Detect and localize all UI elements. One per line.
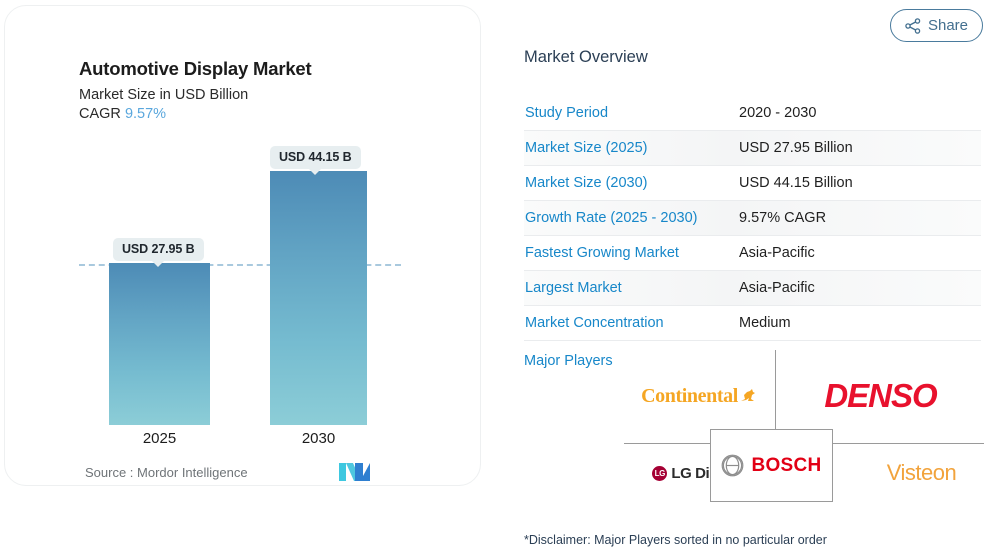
table-row: Market Concentration Medium xyxy=(524,306,981,341)
player-logo-bosch: BOSCH xyxy=(710,429,833,502)
major-players-label: Major Players xyxy=(524,353,613,369)
table-row: Fastest Growing Market Asia-Pacific xyxy=(524,236,981,271)
data-label-2030: USD 44.15 B xyxy=(270,146,361,169)
x-tick-2025: 2025 xyxy=(109,430,210,447)
data-label-2025: USD 27.95 B xyxy=(113,238,204,261)
market-snapshot-page: Automotive Display Market Market Size in… xyxy=(0,0,988,556)
row-key: Market Size (2025) xyxy=(524,140,739,156)
bosch-wordmark: BOSCH xyxy=(751,455,821,477)
bar-chart-plot: USD 27.95 B USD 44.15 B 2025 2030 xyxy=(5,6,482,487)
row-key: Market Size (2030) xyxy=(524,175,739,191)
row-value: Asia-Pacific xyxy=(739,245,815,261)
table-row: Growth Rate (2025 - 2030) 9.57% CAGR xyxy=(524,201,981,236)
table-row: Market Size (2025) USD 27.95 Billion xyxy=(524,131,981,166)
row-value: Asia-Pacific xyxy=(739,280,815,296)
visteon-wordmark: Visteon xyxy=(887,460,956,486)
row-value: 2020 - 2030 xyxy=(739,105,816,121)
x-tick-2030: 2030 xyxy=(270,430,367,447)
denso-wordmark: DENSO xyxy=(824,377,936,415)
table-row: Largest Market Asia-Pacific xyxy=(524,271,981,306)
lg-circle-icon: LG xyxy=(652,466,667,481)
chart-card: Automotive Display Market Market Size in… xyxy=(4,5,481,486)
row-key: Study Period xyxy=(524,105,739,121)
row-value: USD 44.15 Billion xyxy=(739,175,853,191)
share-nodes-icon xyxy=(905,18,921,34)
source-text: Source : Mordor Intelligence xyxy=(85,465,248,480)
major-players-logo-grid: Continental DENSO LG LG Display Visteon xyxy=(624,350,984,502)
player-logo-continental: Continental xyxy=(624,368,774,424)
share-button-label: Share xyxy=(928,17,968,34)
row-value: USD 27.95 Billion xyxy=(739,140,853,156)
share-button[interactable]: Share xyxy=(890,9,983,42)
row-key: Fastest Growing Market xyxy=(524,245,739,261)
disclaimer-text: *Disclaimer: Major Players sorted in no … xyxy=(524,533,827,547)
row-key: Largest Market xyxy=(524,280,739,296)
row-value: 9.57% CAGR xyxy=(739,210,826,226)
mordor-intelligence-logo xyxy=(339,462,370,482)
row-value: Medium xyxy=(739,315,791,331)
bar-2025[interactable] xyxy=(109,263,210,425)
bar-2030[interactable] xyxy=(270,171,367,425)
player-logo-denso: DENSO xyxy=(777,368,984,424)
table-row: Market Size (2030) USD 44.15 Billion xyxy=(524,166,981,201)
table-row: Study Period 2020 - 2030 xyxy=(524,96,981,131)
row-key: Growth Rate (2025 - 2030) xyxy=(524,210,739,226)
continental-wordmark: Continental xyxy=(641,385,738,408)
bosch-anchor-icon xyxy=(721,454,744,477)
continental-horse-icon xyxy=(739,388,757,404)
row-key: Market Concentration xyxy=(524,315,739,331)
market-overview-title: Market Overview xyxy=(524,48,648,67)
market-overview-table: Study Period 2020 - 2030 Market Size (20… xyxy=(524,96,981,341)
